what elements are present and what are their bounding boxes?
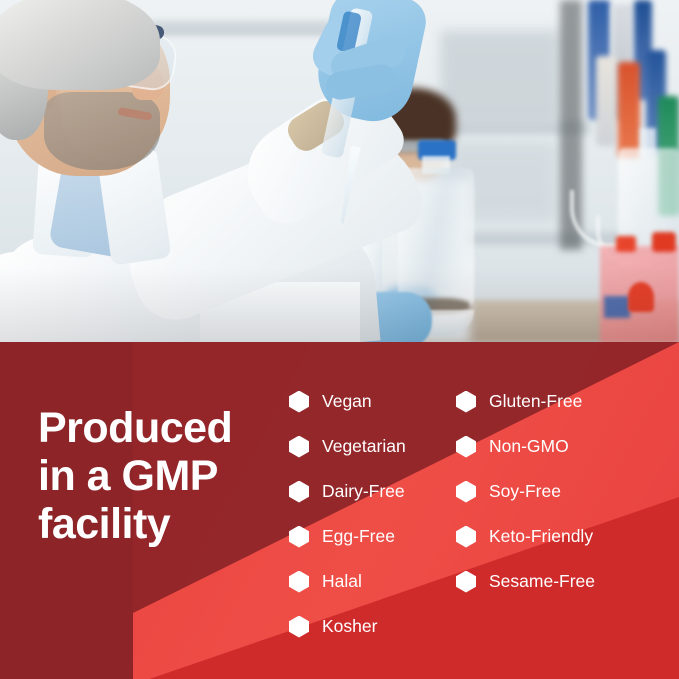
hexagon-bullet-icon [289,436,309,458]
list-item: Kosher [289,604,406,649]
badge-label: Vegetarian [322,438,406,456]
badge-label: Egg-Free [322,528,395,546]
badge-label: Halal [322,573,362,591]
badge-label: Soy-Free [489,483,561,501]
hexagon-bullet-icon [456,481,476,503]
headline-line-3: facility [38,500,288,548]
headline-line-2: in a GMP [38,452,288,500]
badge-label: Keto-Friendly [489,528,593,546]
list-item: Vegetarian [289,424,406,469]
list-item: Egg-Free [289,514,406,559]
hexagon-bullet-icon [456,436,476,458]
hexagon-bullet-icon [456,526,476,548]
list-item: Gluten-Free [456,379,595,424]
list-item: Dairy-Free [289,469,406,514]
badge-label: Kosher [322,618,377,636]
list-item: Keto-Friendly [456,514,595,559]
list-item: Non-GMO [456,424,595,469]
badge-column-left: Vegan Vegetarian Dairy-Free Egg-Free Hal… [289,379,406,649]
page-title: Produced in a GMP facility [38,404,288,548]
hexagon-bullet-icon [289,616,309,638]
lab-photo [0,0,679,343]
hexagon-bullet-icon [289,391,309,413]
badge-label: Non-GMO [489,438,569,456]
badge-label: Dairy-Free [322,483,405,501]
hexagon-bullet-icon [456,571,476,593]
headline-line-1: Produced [38,404,288,452]
list-item: Sesame-Free [456,559,595,604]
promo-card: Produced in a GMP facility Vegan Vegetar… [0,0,679,679]
list-item: Vegan [289,379,406,424]
badge-column-right: Gluten-Free Non-GMO Soy-Free Keto-Friend… [456,379,595,604]
hexagon-bullet-icon [456,391,476,413]
badge-label: Gluten-Free [489,393,582,411]
list-item: Halal [289,559,406,604]
hexagon-bullet-icon [289,481,309,503]
hexagon-bullet-icon [289,571,309,593]
hexagon-bullet-icon [289,526,309,548]
list-item: Soy-Free [456,469,595,514]
photo-bottom-shade [0,0,679,343]
badge-label: Vegan [322,393,372,411]
badge-label: Sesame-Free [489,573,595,591]
